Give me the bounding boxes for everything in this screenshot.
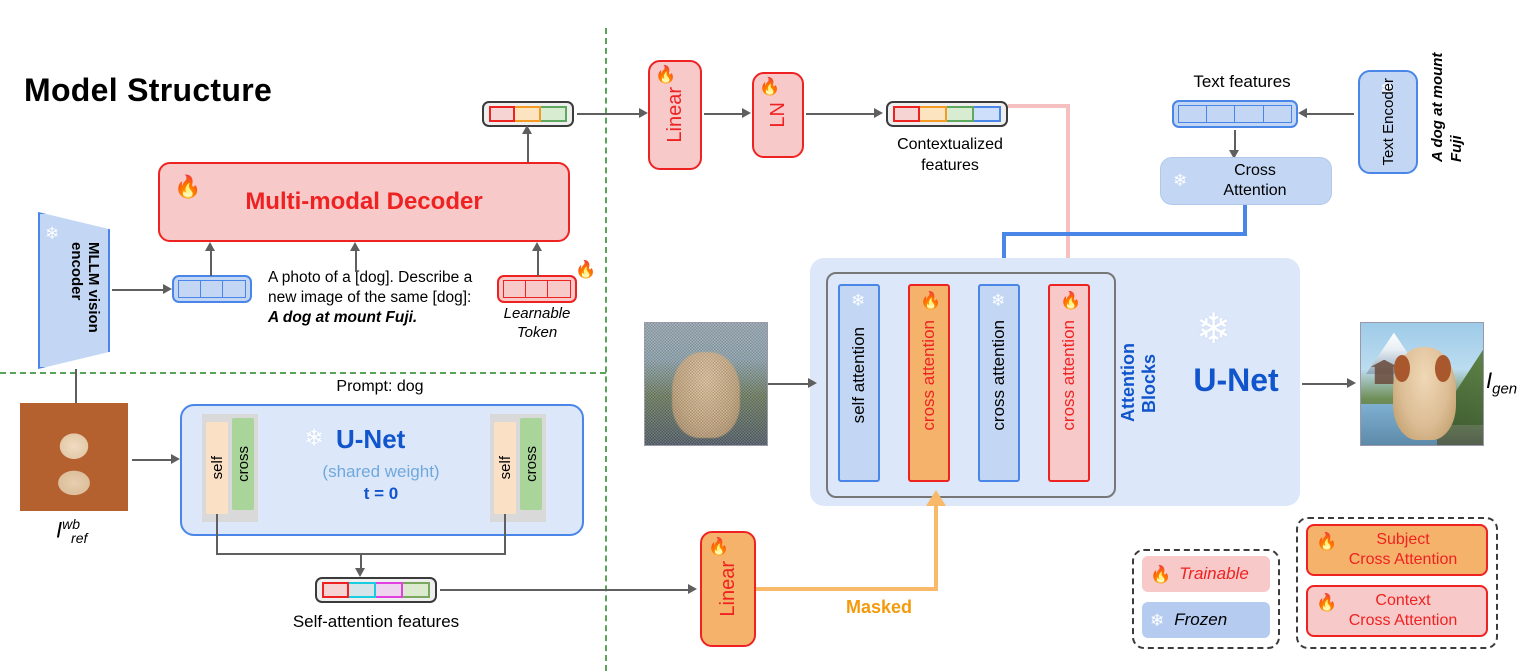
- prompt-line-3: A dog at mount Fuji.: [268, 308, 498, 328]
- mllm-image-tokens: [172, 275, 252, 303]
- flame-icon: 🔥: [1316, 533, 1337, 550]
- masked-linear-block[interactable]: 🔥 Linear: [700, 531, 756, 647]
- projection-linear-label: Linear: [664, 87, 687, 143]
- learnable-token-strip: [497, 275, 577, 303]
- connector-context-to-cross-attention: [1008, 104, 1070, 108]
- cross-label: cross: [235, 446, 252, 482]
- snowflake-icon: ❄: [851, 292, 865, 309]
- arrow-head: [350, 242, 360, 251]
- noise-overlay: [645, 323, 767, 445]
- attention-column-cross-attention-frozen[interactable]: ❄ cross attention: [978, 284, 1020, 482]
- connector-right-self-down: [504, 514, 506, 554]
- text-encoder-block[interactable]: ❄ Text Encoder: [1358, 70, 1418, 174]
- prompt-line-1: A photo of a [dog]. Describe a: [268, 268, 498, 288]
- connector-tokens-to-decoder: [210, 250, 212, 276]
- flame-icon: 🔥: [759, 78, 780, 95]
- snowflake-icon: ❄: [991, 292, 1005, 309]
- attention-column-subject-cross-attention[interactable]: 🔥 cross attention: [908, 284, 950, 482]
- feature-cell: [1207, 105, 1236, 123]
- arrow-head: [808, 378, 817, 388]
- attention-blocks-title: Attention Blocks: [1118, 318, 1162, 448]
- connector-context-vertical: [1066, 104, 1070, 264]
- token-cell: [201, 280, 224, 298]
- flame-icon: 🔥: [920, 292, 941, 309]
- connector-masked-vertical: [934, 506, 938, 590]
- attention-blocks-line2: Blocks: [1139, 353, 1159, 412]
- cross-attention-line2: Attention: [1223, 181, 1286, 201]
- connector-prompt-to-decoder: [355, 250, 357, 272]
- arrow-head: [163, 284, 172, 294]
- legend-frozen: ❄ Frozen: [1142, 602, 1270, 638]
- connector-tokens-to-linear: [577, 113, 642, 115]
- legend-context-line1: Context: [1349, 591, 1458, 611]
- output-label-sub: gen: [1492, 380, 1517, 397]
- token-cell: [503, 280, 526, 298]
- flame-icon: 🔥: [1060, 292, 1081, 309]
- reference-image-label: Iwbref: [56, 516, 87, 546]
- ref-label-sub: ref: [71, 530, 87, 546]
- dog-ear-left: [1394, 355, 1410, 382]
- self-attention-features-label: Self-attention features: [276, 612, 476, 632]
- legend-subject-label: Subject Cross Attention: [1337, 530, 1458, 570]
- shared-unet-right-cross[interactable]: cross: [520, 418, 542, 510]
- connector-encoder-to-ref: [75, 369, 77, 403]
- unet-snowflake-icon: ❄: [1196, 304, 1231, 353]
- connector-ref-to-unet: [132, 459, 174, 461]
- shared-unet-left-self[interactable]: self: [206, 422, 228, 514]
- legend-subject-cross-attention: 🔥 Subject Cross Attention: [1306, 524, 1488, 576]
- text-cross-attention-block[interactable]: ❄ Cross Attention: [1160, 157, 1332, 205]
- connector-learnable-to-decoder: [537, 250, 539, 276]
- contextualized-features-strip: [886, 101, 1008, 127]
- arrow-head: [688, 584, 697, 594]
- text-cross-attention-label: Cross Attention: [1205, 161, 1286, 201]
- text-encoder-caption: A dog at mount Fuji: [1428, 46, 1472, 162]
- arrow-head: [874, 108, 883, 118]
- connector-noisy-to-unet: [768, 383, 812, 385]
- masked-label: Masked: [846, 597, 912, 618]
- contextualized-label-line2: features: [880, 155, 1020, 176]
- feature-cell-orange: [920, 106, 947, 122]
- legend-subject-line1: Subject: [1349, 530, 1458, 550]
- flame-icon: 🔥: [174, 176, 201, 198]
- prompt-line-2: new image of the same [dog]:: [268, 288, 498, 308]
- flame-icon: 🔥: [575, 261, 596, 278]
- projection-linear-block[interactable]: 🔥 Linear: [648, 60, 702, 170]
- vertical-divider: [605, 28, 607, 671]
- horizontal-divider: [0, 372, 606, 374]
- learnable-token-label-line1: Learnable: [484, 304, 590, 323]
- connector-textfeat-to-crossattn: [1234, 130, 1236, 152]
- mllm-vision-encoder-label: MLLM vision encoder: [50, 242, 102, 362]
- shared-unet-right-self[interactable]: self: [494, 422, 516, 514]
- reference-dog-image: [20, 403, 128, 511]
- mllm-vision-encoder[interactable]: ❄ MLLM vision encoder: [38, 212, 110, 369]
- generated-image-label: Igen: [1486, 368, 1517, 397]
- self-label: self: [497, 456, 514, 479]
- arrow-head: [205, 242, 215, 251]
- learnable-token-label-line2: Token: [484, 323, 590, 342]
- connector-linear-to-ln: [704, 113, 744, 115]
- contextualized-features-label: Contextualized features: [880, 134, 1020, 176]
- connector-text-encoder-to-features: [1302, 113, 1354, 115]
- connector-encoder-to-tokens: [112, 289, 164, 291]
- arrow-head-orange: [926, 490, 946, 506]
- noisy-dog-image: [644, 322, 768, 446]
- feature-cell: [1178, 105, 1207, 123]
- feature-cell: [1235, 105, 1264, 123]
- attention-column-label: self attention: [849, 327, 869, 423]
- projection-ln-block[interactable]: 🔥 LN: [752, 72, 804, 158]
- flame-icon: 🔥: [708, 538, 729, 555]
- arrow-head: [171, 454, 180, 464]
- connector-ln-to-contextualized: [806, 113, 876, 115]
- unet-main-label: U-Net: [1176, 362, 1296, 399]
- self-attention-features-strip: [315, 577, 437, 603]
- feature-cell-green: [403, 582, 430, 598]
- prompt-text: A photo of a [dog]. Describe a new image…: [268, 268, 498, 328]
- ref-prompt-label: Prompt: dog: [180, 378, 580, 396]
- attention-column-label: cross attention: [919, 320, 939, 431]
- token-cell: [178, 280, 201, 298]
- token-cell: [526, 280, 549, 298]
- feature-cell-magenta: [376, 582, 403, 598]
- arrow-head: [639, 108, 648, 118]
- legend-frozen-label: Frozen: [1174, 610, 1227, 630]
- dog-ear-right: [1435, 355, 1451, 382]
- contextualized-label-line1: Contextualized: [880, 134, 1020, 155]
- connector-unet-to-output: [1302, 383, 1350, 385]
- attention-blocks-line1: Attention: [1118, 344, 1138, 423]
- text-encoder-label: Text Encoder: [1380, 78, 1397, 166]
- arrow-head: [1347, 378, 1356, 388]
- snowflake-icon: ❄: [1150, 612, 1164, 629]
- feature-cell-red: [893, 106, 920, 122]
- arrow-head: [355, 568, 365, 577]
- connector-left-self-down: [216, 514, 218, 554]
- text-features-label: Text features: [1172, 72, 1312, 92]
- cross-label: cross: [523, 446, 540, 482]
- token-cell-red: [489, 106, 515, 122]
- generated-dog-image: [1360, 322, 1484, 446]
- connector-textattn-horizontal: [1002, 232, 1247, 236]
- decoder-output-tokens: [482, 101, 574, 127]
- attention-column-label: cross attention: [1059, 320, 1079, 431]
- token-cell-orange: [515, 106, 541, 122]
- snowflake-icon: ❄: [45, 225, 59, 242]
- legend-trainable-label: Trainable: [1179, 564, 1249, 584]
- connector-decoder-to-output: [527, 130, 529, 162]
- feature-cell-cyan: [349, 582, 376, 598]
- shared-unet-center-icon: ❄: [304, 424, 324, 453]
- legend-context-label: Context Cross Attention: [1337, 591, 1458, 631]
- arrow-head: [522, 125, 532, 134]
- arrow-head: [1298, 108, 1307, 118]
- connector-features-to-linear: [440, 589, 690, 591]
- masked-linear-label: Linear: [717, 561, 740, 617]
- shared-unet-label: U-Net: [336, 424, 405, 455]
- connector-masked-horizontal: [756, 587, 938, 591]
- cross-attention-line1: Cross: [1223, 161, 1286, 181]
- legend-trainable: 🔥 Trainable: [1142, 556, 1270, 592]
- multi-modal-decoder[interactable]: 🔥 Multi-modal Decoder: [158, 162, 570, 242]
- legend-context-line2: Cross Attention: [1349, 611, 1458, 631]
- flame-icon: 🔥: [1150, 566, 1171, 583]
- attention-column-context-cross-attention[interactable]: 🔥 cross attention: [1048, 284, 1090, 482]
- shared-unet-sub2: t = 0: [286, 484, 476, 504]
- legend-subject-line2: Cross Attention: [1349, 550, 1458, 570]
- flame-icon: 🔥: [655, 66, 676, 83]
- snowflake-icon: ❄: [1173, 172, 1187, 189]
- legend-context-cross-attention: 🔥 Context Cross Attention: [1306, 585, 1488, 637]
- projection-ln-label: LN: [767, 102, 790, 128]
- attention-column-label: cross attention: [989, 320, 1009, 431]
- arrow-head: [532, 242, 542, 251]
- token-cell: [548, 280, 571, 298]
- feature-cell-green: [947, 106, 974, 122]
- page-title: Model Structure: [24, 72, 272, 109]
- feature-cell-blue: [974, 106, 1001, 122]
- connector-textattn-vertical-a: [1243, 205, 1247, 235]
- feature-cell-red: [322, 582, 349, 598]
- arrow-head: [742, 108, 751, 118]
- text-features-strip: [1172, 100, 1298, 128]
- learnable-token-label: Learnable Token: [484, 304, 590, 342]
- token-cell: [223, 280, 246, 298]
- flame-icon: 🔥: [1316, 594, 1337, 611]
- attention-column-self-attention[interactable]: ❄ self attention: [838, 284, 880, 482]
- multi-modal-decoder-label: Multi-modal Decoder: [245, 188, 482, 216]
- feature-cell: [1264, 105, 1293, 123]
- token-cell-green: [541, 106, 567, 122]
- shared-unet-sub1: (shared weight): [286, 462, 476, 482]
- shared-unet-left-cross[interactable]: cross: [232, 418, 254, 510]
- self-label: self: [209, 456, 226, 479]
